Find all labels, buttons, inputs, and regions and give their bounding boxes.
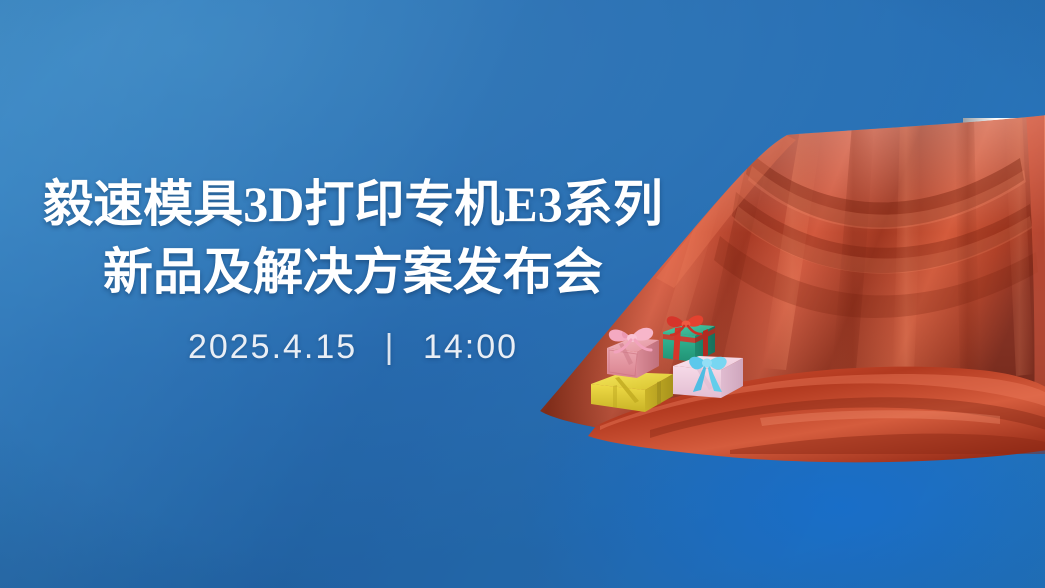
printer-seam-upper xyxy=(963,266,1045,268)
event-poster: 毅速模具3D打印专机E3系列 新品及解决方案发布会 2025.4.15 | 14… xyxy=(0,0,1045,588)
printer-body xyxy=(963,118,1045,386)
datetime-separator: | xyxy=(385,328,396,367)
printer-base-tier-3 xyxy=(955,416,1045,434)
printer-keypad xyxy=(999,228,1045,241)
printer-top-edge xyxy=(963,118,1045,123)
yellow-gift-box xyxy=(591,372,673,412)
3d-printer-machine xyxy=(963,118,1045,434)
event-datetime: 2025.4.15 | 14:00 xyxy=(0,328,706,367)
event-time: 14:00 xyxy=(423,328,518,366)
printer-base-tier-2 xyxy=(957,397,1045,419)
printer-display-screen xyxy=(999,190,1045,222)
event-date: 2025.4.15 xyxy=(188,328,357,366)
headline-line-2: 新品及解决方案发布会 xyxy=(0,238,706,306)
printer-seam-lower xyxy=(963,358,1045,361)
printer-control-panel xyxy=(969,176,1045,252)
headline-line-1: 毅速模具3D打印专机E3系列 xyxy=(0,170,706,238)
poster-text-block: 毅速模具3D打印专机E3系列 新品及解决方案发布会 2025.4.15 | 14… xyxy=(0,170,706,367)
